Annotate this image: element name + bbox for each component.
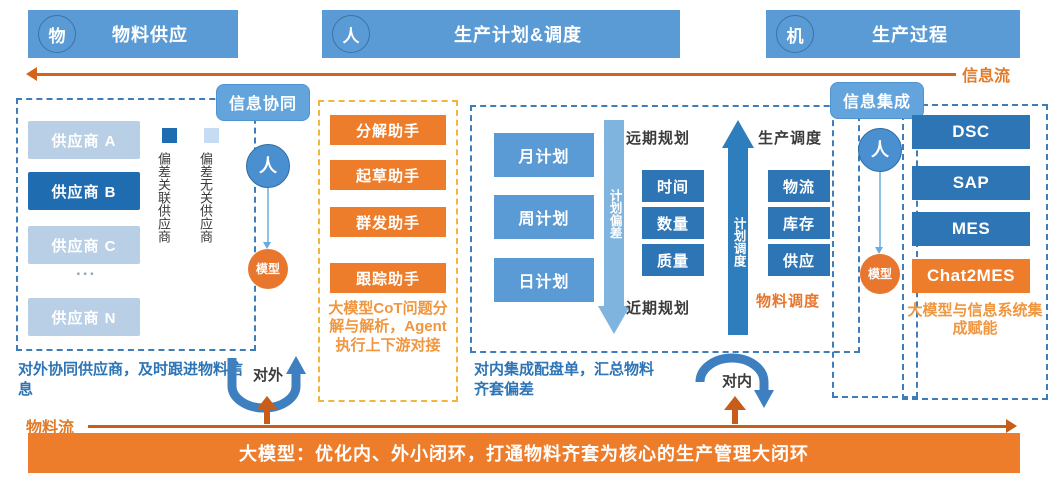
- material-flow-arrowhead-icon: [1006, 419, 1017, 433]
- internal-loop-label: 对内: [722, 370, 752, 391]
- supplier-box-n[interactable]: 供应商 N: [28, 298, 140, 336]
- left-person-node: 人: [246, 144, 290, 188]
- right-person-model-connector: [879, 172, 881, 249]
- material-flow-line: [88, 425, 1008, 428]
- right-connector-arrowhead-icon: [875, 247, 883, 254]
- agent-chip-draft[interactable]: 起草助手: [330, 160, 446, 190]
- dimension-box-quality[interactable]: 质量: [642, 244, 704, 276]
- dimension-box-time[interactable]: 时间: [642, 170, 704, 202]
- plan-schedule-arrow-label: 计划调度: [731, 217, 744, 267]
- header-badge-wu: 物: [38, 15, 76, 53]
- plan-schedule-arrow: 计划调度: [722, 120, 754, 335]
- header-badge-ren: 人: [332, 15, 370, 53]
- legend-label-deviation-unrelated: 偏差无关供应商: [198, 152, 212, 332]
- header-material-supply: 物 物料供应: [28, 10, 238, 58]
- dimension-box-quantity[interactable]: 数量: [642, 207, 704, 239]
- information-flow-label: 信息流: [962, 62, 1010, 86]
- plan-deviation-arrow-label: 计划偏差: [607, 189, 620, 239]
- header-label-production-process: 生产过程: [814, 21, 1020, 47]
- system-box-chat2mes[interactable]: Chat2MES: [912, 259, 1030, 293]
- production-dispatch-title: 生产调度: [758, 127, 822, 148]
- right-panel-caption: 大模型与信息系统集成赋能: [906, 302, 1044, 339]
- left-model-node: 模型: [248, 249, 288, 289]
- near-term-planning-label: 近期规划: [626, 297, 690, 318]
- supplier-box-b[interactable]: 供应商 B: [28, 172, 140, 210]
- agent-chip-track[interactable]: 跟踪助手: [330, 263, 446, 293]
- legend-swatch-deviation-unrelated-icon: [204, 128, 219, 143]
- badge-information-integration: 信息集成: [830, 82, 924, 119]
- plan-box-week[interactable]: 周计划: [494, 195, 594, 239]
- center-panel-caption: 对内集成配盘单，汇总物料齐套偏差: [474, 360, 664, 399]
- plan-schedule-arrowhead-icon: [722, 120, 754, 148]
- header-production-plan-schedule: 人 生产计划&调度: [322, 10, 680, 58]
- external-loop-arrow-icon: [222, 352, 322, 424]
- plan-box-month[interactable]: 月计划: [494, 133, 594, 177]
- header-label-production-plan-schedule: 生产计划&调度: [370, 21, 680, 47]
- header-label-material-supply: 物料供应: [76, 21, 238, 47]
- left-person-model-connector: [267, 188, 269, 244]
- bottom-summary-banner: 大模型：优化内、外小闭环，打通物料齐套为核心的生产管理大闭环: [28, 433, 1020, 473]
- agent-chip-decompose[interactable]: 分解助手: [330, 115, 446, 145]
- plan-box-day[interactable]: 日计划: [494, 258, 594, 302]
- legend-label-deviation-related: 偏差关联供应商: [156, 152, 170, 332]
- information-flow-arrowhead-icon: [26, 67, 37, 81]
- supplier-list-ellipsis: ...: [76, 260, 96, 280]
- dispatch-box-inventory[interactable]: 库存: [768, 207, 830, 239]
- information-flow-line: [34, 73, 956, 76]
- dispatch-box-supply[interactable]: 供应: [768, 244, 830, 276]
- supplier-box-a[interactable]: 供应商 A: [28, 121, 140, 159]
- badge-information-collaboration: 信息协同: [216, 84, 310, 121]
- system-box-mes[interactable]: MES: [912, 212, 1030, 246]
- system-box-dsc[interactable]: DSC: [912, 115, 1030, 149]
- material-dispatch-note: 物料调度: [756, 290, 820, 311]
- agent-chip-broadcast[interactable]: 群发助手: [330, 207, 446, 237]
- header-production-process: 机 生产过程: [766, 10, 1020, 58]
- agent-panel-caption: 大模型CoT问题分解与解析，Agent执行上下游对接: [324, 300, 452, 355]
- right-model-node: 模型: [860, 254, 900, 294]
- system-box-sap[interactable]: SAP: [912, 166, 1030, 200]
- agent-assistant-region: [318, 100, 458, 402]
- legend-swatch-deviation-related-icon: [162, 128, 177, 143]
- left-connector-arrowhead-icon: [263, 242, 271, 249]
- external-loop-label: 对外: [253, 364, 283, 385]
- right-person-node: 人: [858, 128, 902, 172]
- supplier-box-c[interactable]: 供应商 C: [28, 226, 140, 264]
- dispatch-box-logistics[interactable]: 物流: [768, 170, 830, 202]
- header-badge-ji: 机: [776, 15, 814, 53]
- left-panel-caption: 对外协同供应商，及时跟进物料信息: [18, 360, 243, 399]
- diagram-canvas: 物 物料供应 人 生产计划&调度 机 生产过程 信息流 物料流 供应商 A 供应…: [0, 0, 1064, 487]
- long-term-planning-label: 远期规划: [626, 127, 690, 148]
